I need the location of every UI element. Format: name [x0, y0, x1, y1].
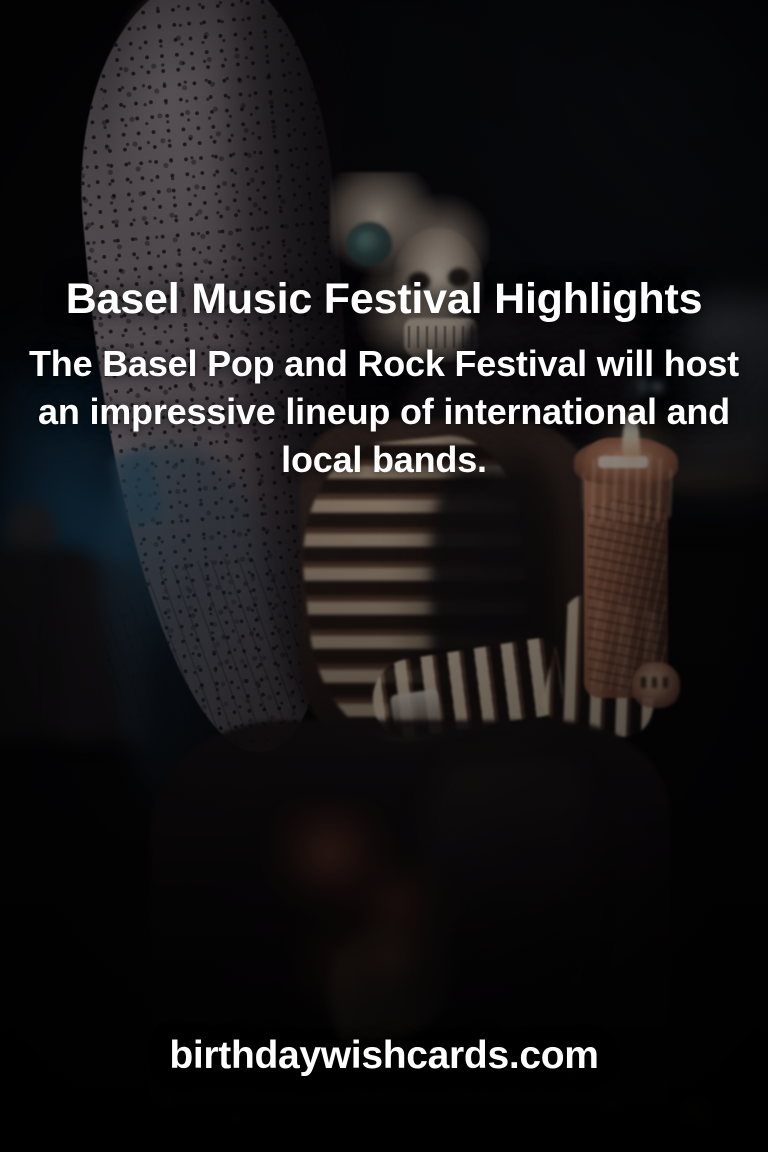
- text-overlay: Basel Music Festival Highlights The Base…: [0, 0, 768, 1152]
- card-body-text: The Basel Pop and Rock Festival will hos…: [26, 340, 742, 484]
- footer: birthdaywishcards.com: [0, 1034, 768, 1078]
- site-url[interactable]: birthdaywishcards.com: [169, 1034, 598, 1077]
- greeting-card: Basel Music Festival Highlights The Base…: [0, 0, 768, 1152]
- card-headline: Basel Music Festival Highlights: [26, 272, 742, 326]
